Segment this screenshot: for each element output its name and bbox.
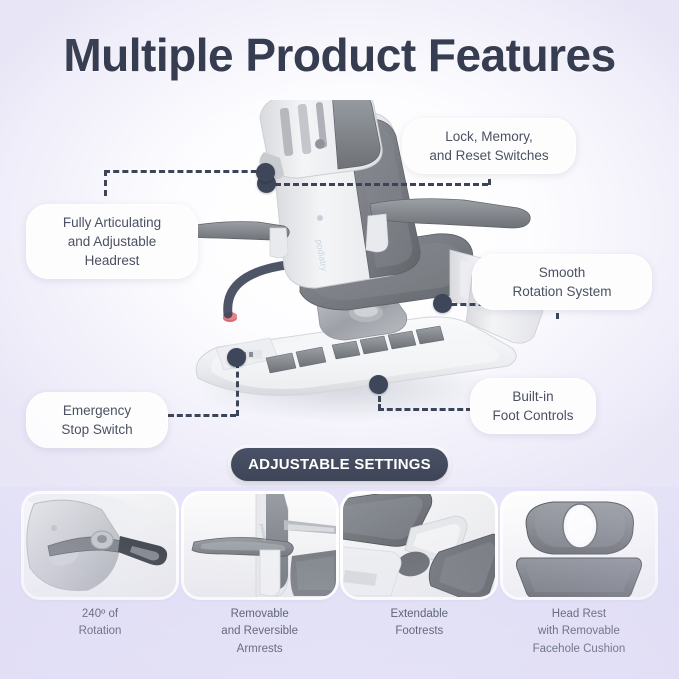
- callout-articulating-headrest[interactable]: Fully Articulating and Adjustable Headre…: [26, 204, 198, 279]
- callout-builtin-foot-controls[interactable]: Built-in Foot Controls: [470, 378, 596, 434]
- thumbnail-footrest[interactable]: [343, 494, 495, 597]
- connector-dot-emergency: [227, 348, 246, 367]
- callout-headrest-line2: and Adjustable: [63, 232, 161, 251]
- connector-dot-rotation: [433, 294, 452, 313]
- connector-drop-headrest: [104, 170, 107, 196]
- page-title: Multiple Product Features: [0, 28, 679, 82]
- callout-rotation-line2: Rotation System: [512, 282, 611, 301]
- callout-headrest-line1: Fully Articulating: [63, 213, 161, 232]
- infographic-page: Multiple Product Features: [0, 0, 679, 679]
- callout-lock-memory-reset[interactable]: Lock, Memory, and Reset Switches: [402, 118, 576, 174]
- connector-dot-headrest: [256, 163, 275, 182]
- connector-drop-emergency: [236, 362, 239, 416]
- connector-line-foot: [378, 408, 472, 411]
- caption-headrest-line2: with Removable: [503, 623, 655, 640]
- callout-emergency-stop-switch[interactable]: Emergency Stop Switch: [26, 392, 168, 448]
- thumbnail-row: podiatry: [24, 494, 655, 602]
- caption-footrest-line2: Footrests: [343, 623, 495, 640]
- callout-emergency-line2: Stop Switch: [61, 420, 132, 439]
- callout-lock-line1: Lock, Memory,: [429, 127, 548, 146]
- callout-foot-line2: Foot Controls: [492, 406, 573, 425]
- caption-footrest: Extendable Footrests: [343, 606, 495, 658]
- callout-lock-line2: and Reset Switches: [429, 146, 548, 165]
- callout-foot-line1: Built-in: [492, 387, 573, 406]
- callout-headrest-line3: Headrest: [63, 251, 161, 270]
- caption-headrest-line1: Head Rest: [503, 606, 655, 623]
- adjustable-settings-label: ADJUSTABLE SETTINGS: [248, 456, 431, 473]
- caption-rotation-line1: 240º of: [24, 606, 176, 623]
- caption-armrest-line3: Armrests: [184, 641, 336, 658]
- thumbnail-armrest[interactable]: podiatry: [184, 494, 336, 597]
- callout-emergency-line1: Emergency: [61, 401, 132, 420]
- caption-headrest-line3: Facehole Cushion: [503, 641, 655, 658]
- caption-footrest-line1: Extendable: [343, 606, 495, 623]
- caption-armrest: Removable and Reversible Armrests: [184, 606, 336, 658]
- connector-dot-foot: [369, 375, 388, 394]
- adjustable-settings-banner: ADJUSTABLE SETTINGS: [231, 448, 448, 481]
- caption-armrest-line2: and Reversible: [184, 623, 336, 640]
- connector-line-headrest: [104, 170, 266, 173]
- thumbnail-captions: 240º of Rotation Removable and Reversibl…: [24, 606, 655, 658]
- caption-rotation-line2: Rotation: [24, 623, 176, 640]
- caption-headrest: Head Rest with Removable Facehole Cushio…: [503, 606, 655, 658]
- callout-rotation-line1: Smooth: [512, 263, 611, 282]
- connector-line-lock: [266, 183, 488, 186]
- caption-armrest-line1: Removable: [184, 606, 336, 623]
- caption-rotation: 240º of Rotation: [24, 606, 176, 658]
- connector-line-emergency: [168, 414, 236, 417]
- thumbnail-headrest[interactable]: [503, 494, 655, 597]
- thumbnail-rotation-base[interactable]: [24, 494, 176, 597]
- callout-smooth-rotation-system[interactable]: Smooth Rotation System: [472, 254, 652, 310]
